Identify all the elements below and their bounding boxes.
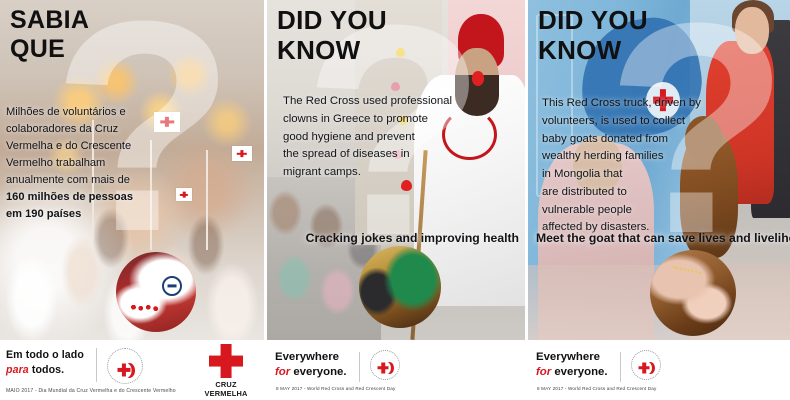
panel-3-slogan: Everywhere for everyone. (536, 350, 608, 381)
ifrc-emblem-icon: INTERNATIONAL MOVEMENT (631, 350, 661, 380)
red-crescent-icon (646, 362, 655, 374)
panel-2-headline: DID YOU KNOW (277, 6, 387, 65)
logo-line-1: CRUZ (192, 380, 260, 389)
panel-3-fineprint: 8 MAY 2017 - World Red Cross and Red Cre… (537, 386, 656, 391)
red-cross-flag-icon (232, 146, 252, 161)
slogan-line-1: Everywhere (536, 351, 600, 363)
panel-2-footer: Everywhere for everyone. INTERNATIONAL M… (267, 340, 525, 400)
body-line: in Mongolia that (542, 166, 710, 184)
panel-1-slogan: Em todo o lado para todos. (0, 340, 96, 379)
red-crescent-icon (124, 363, 135, 378)
red-cross-icon (209, 344, 243, 378)
body-line: baby goats donated from (542, 131, 710, 149)
headline-line-1: SABIA (10, 6, 89, 35)
ifrc-emblem-icon: INTERNATIONAL MOVEMENT (107, 348, 143, 384)
slogan-line-2: everyone. (551, 366, 607, 378)
logo-line-2: VERMELHA (192, 389, 260, 398)
slogan-line-1: Em todo o lado (6, 349, 84, 361)
red-crescent-icon (385, 362, 394, 374)
panel-2-fineprint: 8 MAY 2017 - World Red Cross and Red Cre… (276, 386, 395, 391)
panel-1-circular-photo-inset (116, 252, 196, 332)
emblem-ring-text: INTERNATIONAL MOVEMENT (371, 351, 372, 352)
panel-2-body-text: The Red Cross used professional clowns i… (283, 93, 443, 182)
body-line: the spread of diseases in (283, 146, 443, 164)
panel-1-footer: Em todo o lado para todos. INTERNATIONAL… (0, 340, 264, 400)
panel-3-body-text: This Red Cross truck, driven by voluntee… (542, 95, 710, 237)
emblem-ring-text: INTERNATIONAL MOVEMENT (108, 349, 109, 350)
slogan-line-1: Everywhere (275, 351, 339, 363)
body-line: This Red Cross truck, driven by (542, 95, 710, 113)
body-line: Vermelho trabalham (6, 155, 156, 172)
panel-3-footer: Everywhere for everyone. INTERNATIONAL M… (528, 340, 790, 400)
emblem-ring-text: INTERNATIONAL MOVEMENT (632, 351, 633, 352)
panel-2-circular-photo-inset (359, 246, 441, 328)
ifrc-emblem-icon: INTERNATIONAL MOVEMENT (370, 350, 400, 380)
slogan-line-2: todos. (29, 364, 64, 376)
slogan-line-2: everyone. (290, 366, 346, 378)
body-line: The Red Cross used professional (283, 93, 443, 111)
slogan-italic-word: for (275, 366, 290, 378)
panel-mongolia-goats[interactable]: ? DID YOU KNOW This Red Cross truck, dri… (528, 0, 790, 400)
body-line-bold: em 190 países (6, 206, 156, 223)
body-line: migrant camps. (283, 164, 443, 182)
panel-2-caption: Cracking jokes and improving health (306, 231, 519, 245)
body-line: colaboradores da Cruz (6, 121, 156, 138)
panel-1-fineprint: MAIO 2017 - Dia Mundial da Cruz Vermelha… (6, 388, 176, 394)
panel-3-headline: DID YOU KNOW (538, 6, 648, 65)
body-line: volunteers, is used to collect (542, 113, 710, 131)
red-cross-pattern-icon (129, 300, 166, 318)
headline-line-1: DID YOU (277, 6, 387, 36)
body-line: good hygiene and prevent (283, 129, 443, 147)
body-line: Vermelha e do Crescente (6, 138, 156, 155)
body-line-bold: 160 milhões de pessoas (6, 189, 156, 206)
body-line: Milhões de voluntários e (6, 104, 156, 121)
red-cross-flag-icon (154, 112, 180, 132)
headline-line-2: KNOW (538, 36, 648, 66)
cap-emblem-icon (162, 276, 182, 296)
body-line: clowns in Greece to promote (283, 111, 443, 129)
body-line: vulnerable people (542, 202, 710, 220)
footer-divider (96, 348, 97, 382)
panel-3-circular-photo-inset (650, 250, 736, 336)
panel-sabia-que[interactable]: ? SABIA QUE Milhões de voluntários e col… (0, 0, 264, 400)
cruz-vermelha-portuguesa-logo[interactable]: CRUZ VERMELHA PORTUGUESA (192, 344, 260, 400)
clown-red-nose (472, 71, 484, 85)
poster-board: ? SABIA QUE Milhões de voluntários e col… (0, 0, 790, 400)
slogan-italic-word: for (536, 366, 551, 378)
body-line: wealthy herding families (542, 148, 710, 166)
panel-2-slogan: Everywhere for everyone. (275, 350, 347, 381)
headline-line-2: QUE (10, 35, 89, 64)
headline-line-1: DID YOU (538, 6, 648, 36)
footer-divider (620, 352, 621, 382)
body-line: are distributed to (542, 184, 710, 202)
headline-line-2: KNOW (277, 36, 387, 66)
panel-1-body-text: Milhões de voluntários e colaboradores d… (6, 104, 156, 224)
red-cross-flag-icon (176, 188, 192, 201)
panel-clowns-greece[interactable]: ? DID YOU KNOW The Red Cross used profes… (267, 0, 525, 400)
panel-1-headline: SABIA QUE (10, 6, 89, 63)
panel-3-caption: Meet the goat that can save lives and li… (536, 231, 790, 245)
slogan-italic-word: para (6, 364, 29, 376)
footer-divider (359, 352, 360, 382)
body-line: anualmente com mais de (6, 172, 156, 189)
